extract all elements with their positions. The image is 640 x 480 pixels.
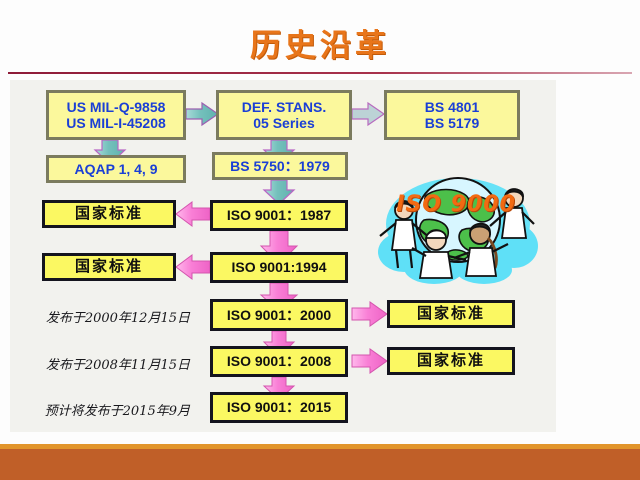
box-national-standard-2[interactable]: 国家标准 xyxy=(42,253,176,281)
page-title: 历史沿革 xyxy=(0,20,640,65)
box-national-standard-4[interactable]: 国家标准 xyxy=(387,347,515,375)
box-national-standard-1-label: 国家标准 xyxy=(75,205,143,222)
box-def-stans-line2: 05 Series xyxy=(253,115,315,131)
box-def-stans[interactable]: DEF. STANS. 05 Series xyxy=(216,90,352,140)
box-iso-2000-label: ISO 9001：2000 xyxy=(227,307,331,323)
caption-release-2008: 发布于2008年11月15日 xyxy=(28,354,190,373)
box-iso-2015-label: ISO 9001：2015 xyxy=(227,399,331,415)
box-us-mil-line2: US MIL-I-45208 xyxy=(66,115,166,131)
slide-root: 历史沿革 xyxy=(0,0,640,480)
box-national-standard-4-label: 国家标准 xyxy=(417,352,485,369)
title-divider xyxy=(8,72,632,74)
box-iso-9001-2000[interactable]: ISO 9001：2000 xyxy=(210,299,348,331)
box-national-standard-3-label: 国家标准 xyxy=(417,305,485,322)
box-iso-9001-1994[interactable]: ISO 9001:1994 xyxy=(210,252,348,283)
box-us-mil[interactable]: US MIL-Q-9858 US MIL-I-45208 xyxy=(46,90,186,140)
box-national-standard-3[interactable]: 国家标准 xyxy=(387,300,515,328)
globe-people-icon xyxy=(374,168,538,286)
box-iso-1994-label: ISO 9001:1994 xyxy=(232,259,327,275)
box-bs-5750[interactable]: BS 5750：1979 xyxy=(212,152,348,180)
caption-release-2000: 发布于2000年12月15日 xyxy=(28,307,190,326)
box-national-standard-1[interactable]: 国家标准 xyxy=(42,200,176,228)
box-bs-line2: BS 5179 xyxy=(425,115,479,131)
box-iso-1987-label: ISO 9001：1987 xyxy=(227,207,331,223)
caption-release-2015: 预计将发布于2015年9月 xyxy=(20,400,190,419)
box-us-mil-line1: US MIL-Q-9858 xyxy=(67,99,166,115)
box-national-standard-2-label: 国家标准 xyxy=(75,258,143,275)
box-iso-9001-1987[interactable]: ISO 9001：1987 xyxy=(210,200,348,231)
box-iso-9001-2015[interactable]: ISO 9001：2015 xyxy=(210,392,348,423)
box-aqap[interactable]: AQAP 1, 4, 9 xyxy=(46,155,186,183)
box-iso-2008-label: ISO 9001：2008 xyxy=(227,353,331,369)
box-iso-9001-2008[interactable]: ISO 9001：2008 xyxy=(210,346,348,377)
box-bs-5750-label: BS 5750：1979 xyxy=(230,158,330,174)
box-bs-4801-5179[interactable]: BS 4801 BS 5179 xyxy=(384,90,520,140)
footer-bar xyxy=(0,449,640,480)
box-def-stans-line1: DEF. STANS. xyxy=(242,99,327,115)
box-bs-line1: BS 4801 xyxy=(425,99,479,115)
box-aqap-label: AQAP 1, 4, 9 xyxy=(74,161,157,177)
iso-9000-label: ISO 9000 xyxy=(374,192,538,217)
